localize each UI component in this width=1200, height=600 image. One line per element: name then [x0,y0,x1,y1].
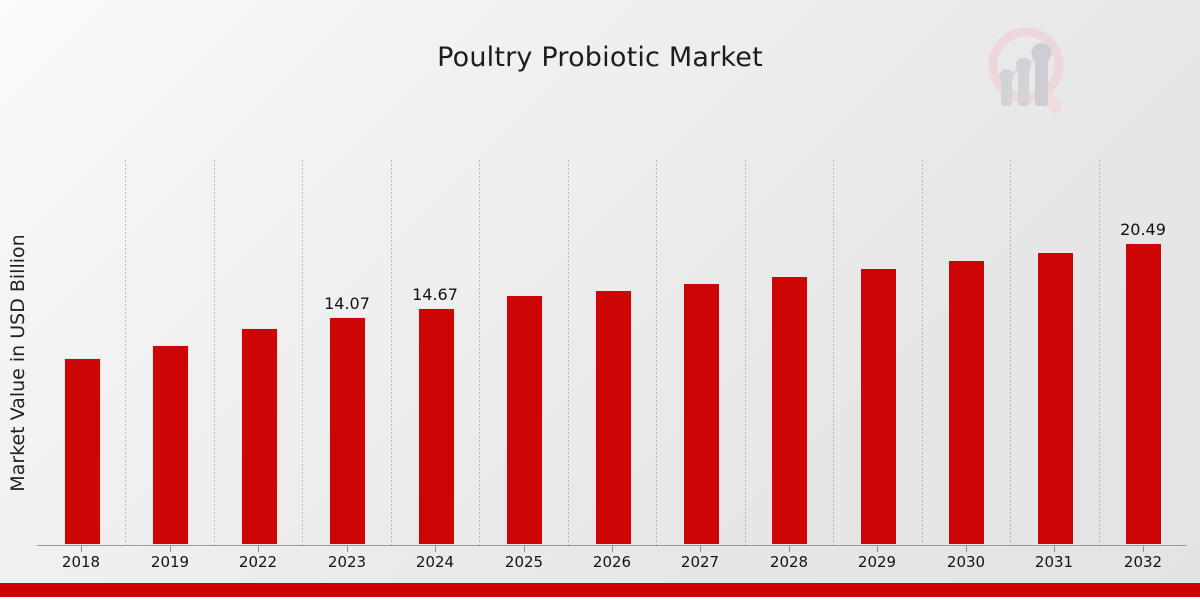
x-tick-label-2027: 2027 [660,553,740,571]
bar-2026[interactable] [595,290,632,545]
bar-2019[interactable] [152,345,189,545]
footer-accent-bar [0,583,1200,597]
grid-line [568,160,569,545]
grid-line [214,160,215,545]
grid-line [745,160,746,545]
x-tick-mark [1143,546,1144,552]
bar-value-label-2023: 14.07 [307,294,387,313]
x-tick-mark [258,546,259,552]
grid-line [1099,160,1100,545]
x-tick-label-2032: 2032 [1103,553,1183,571]
x-tick-label-2019: 2019 [130,553,210,571]
bar-2030[interactable] [948,260,985,545]
x-tick-mark [789,546,790,552]
bar-2029[interactable] [860,268,897,545]
x-tick-label-2030: 2030 [926,553,1006,571]
bar-2031[interactable] [1037,252,1074,545]
x-tick-mark [966,546,967,552]
chart-figure: Poultry Probiotic Market Market Value in… [0,0,1200,600]
bar-2022[interactable] [241,328,278,545]
x-tick-mark [435,546,436,552]
x-tick-label-2031: 2031 [1014,553,1094,571]
x-tick-label-2025: 2025 [484,553,564,571]
page-title: Poultry Probiotic Market [0,42,1200,73]
x-tick-mark [81,546,82,552]
x-tick-mark [877,546,878,552]
x-tick-label-2023: 2023 [307,553,387,571]
grid-line [391,160,392,545]
x-tick-mark [524,546,525,552]
x-tick-label-2024: 2024 [395,553,475,571]
grid-line [302,160,303,545]
bar-value-label-2024: 14.67 [395,285,475,304]
bar-2028[interactable] [771,276,808,545]
plot-area [37,160,1187,545]
x-tick-label-2026: 2026 [572,553,652,571]
x-tick-mark [612,546,613,552]
grid-line [479,160,480,545]
bar-2018[interactable] [64,358,101,545]
bar-2023[interactable] [329,317,366,545]
x-tick-mark [347,546,348,552]
x-tick-label-2028: 2028 [749,553,829,571]
x-tick-mark [700,546,701,552]
bar-2024[interactable] [418,308,455,545]
grid-line [833,160,834,545]
x-tick-label-2029: 2029 [837,553,917,571]
grid-line [125,160,126,545]
grid-line [922,160,923,545]
y-axis-label: Market Value in USD Billion [7,153,29,573]
grid-line [656,160,657,545]
bar-value-label-2032: 20.49 [1103,220,1183,239]
x-tick-mark [1054,546,1055,552]
x-tick-label-2022: 2022 [218,553,298,571]
grid-line [1010,160,1011,545]
bar-2032[interactable] [1125,243,1162,545]
x-tick-mark [170,546,171,552]
bar-2027[interactable] [683,283,720,545]
x-tick-label-2018: 2018 [41,553,121,571]
bar-2025[interactable] [506,295,543,545]
